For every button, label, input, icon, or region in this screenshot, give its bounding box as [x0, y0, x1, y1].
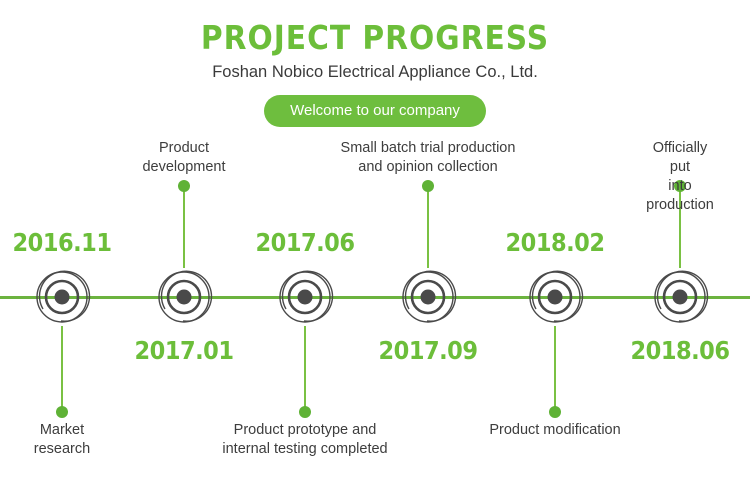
leader-line — [554, 326, 556, 412]
milestone-label: Product development — [142, 139, 225, 177]
page-title: PROJECT PROGRESS — [0, 0, 750, 57]
leader-line — [61, 326, 63, 412]
leader-dot — [549, 406, 561, 418]
date-label: 2017.01 — [135, 336, 234, 365]
timeline-marker-2018-02[interactable] — [520, 262, 590, 332]
header: PROJECT PROGRESS Foshan Nobico Electrica… — [0, 0, 750, 127]
company-name: Foshan Nobico Electrical Appliance Co., … — [0, 57, 750, 82]
marker-rings — [645, 262, 715, 332]
leader-dot — [56, 406, 68, 418]
welcome-button[interactable]: Welcome to our company — [264, 95, 486, 127]
leader-dot — [422, 180, 434, 192]
timeline-marker-2016-11[interactable] — [27, 262, 97, 332]
timeline-marker-2017-06[interactable] — [270, 262, 340, 332]
leader-line — [427, 186, 429, 268]
marker-rings — [149, 262, 219, 332]
marker-rings — [520, 262, 590, 332]
milestone-label: Market research — [34, 421, 90, 459]
marker-rings — [27, 262, 97, 332]
timeline-marker-2017-01[interactable] — [149, 262, 219, 332]
date-label: 2017.09 — [379, 336, 478, 365]
date-label: 2018.02 — [506, 228, 605, 257]
milestone-label: Small batch trial production and opinion… — [341, 139, 516, 177]
milestone-label: Officially put into production — [645, 139, 715, 216]
welcome-pill-wrap: Welcome to our company — [0, 95, 750, 127]
project-progress-infographic: PROJECT PROGRESS Foshan Nobico Electrica… — [0, 0, 750, 500]
leader-line — [304, 326, 306, 412]
leader-dot — [299, 406, 311, 418]
date-label: 2018.06 — [631, 336, 730, 365]
marker-rings — [270, 262, 340, 332]
date-label: 2017.06 — [256, 228, 355, 257]
milestone-label: Product prototype and internal testing c… — [222, 421, 387, 459]
timeline-marker-2018-06[interactable] — [645, 262, 715, 332]
date-label: 2016.11 — [13, 228, 112, 257]
leader-dot — [178, 180, 190, 192]
leader-line — [183, 186, 185, 268]
marker-rings — [393, 262, 463, 332]
timeline-axis — [0, 296, 750, 299]
milestone-label: Product modification — [489, 421, 620, 440]
timeline-marker-2017-09[interactable] — [393, 262, 463, 332]
